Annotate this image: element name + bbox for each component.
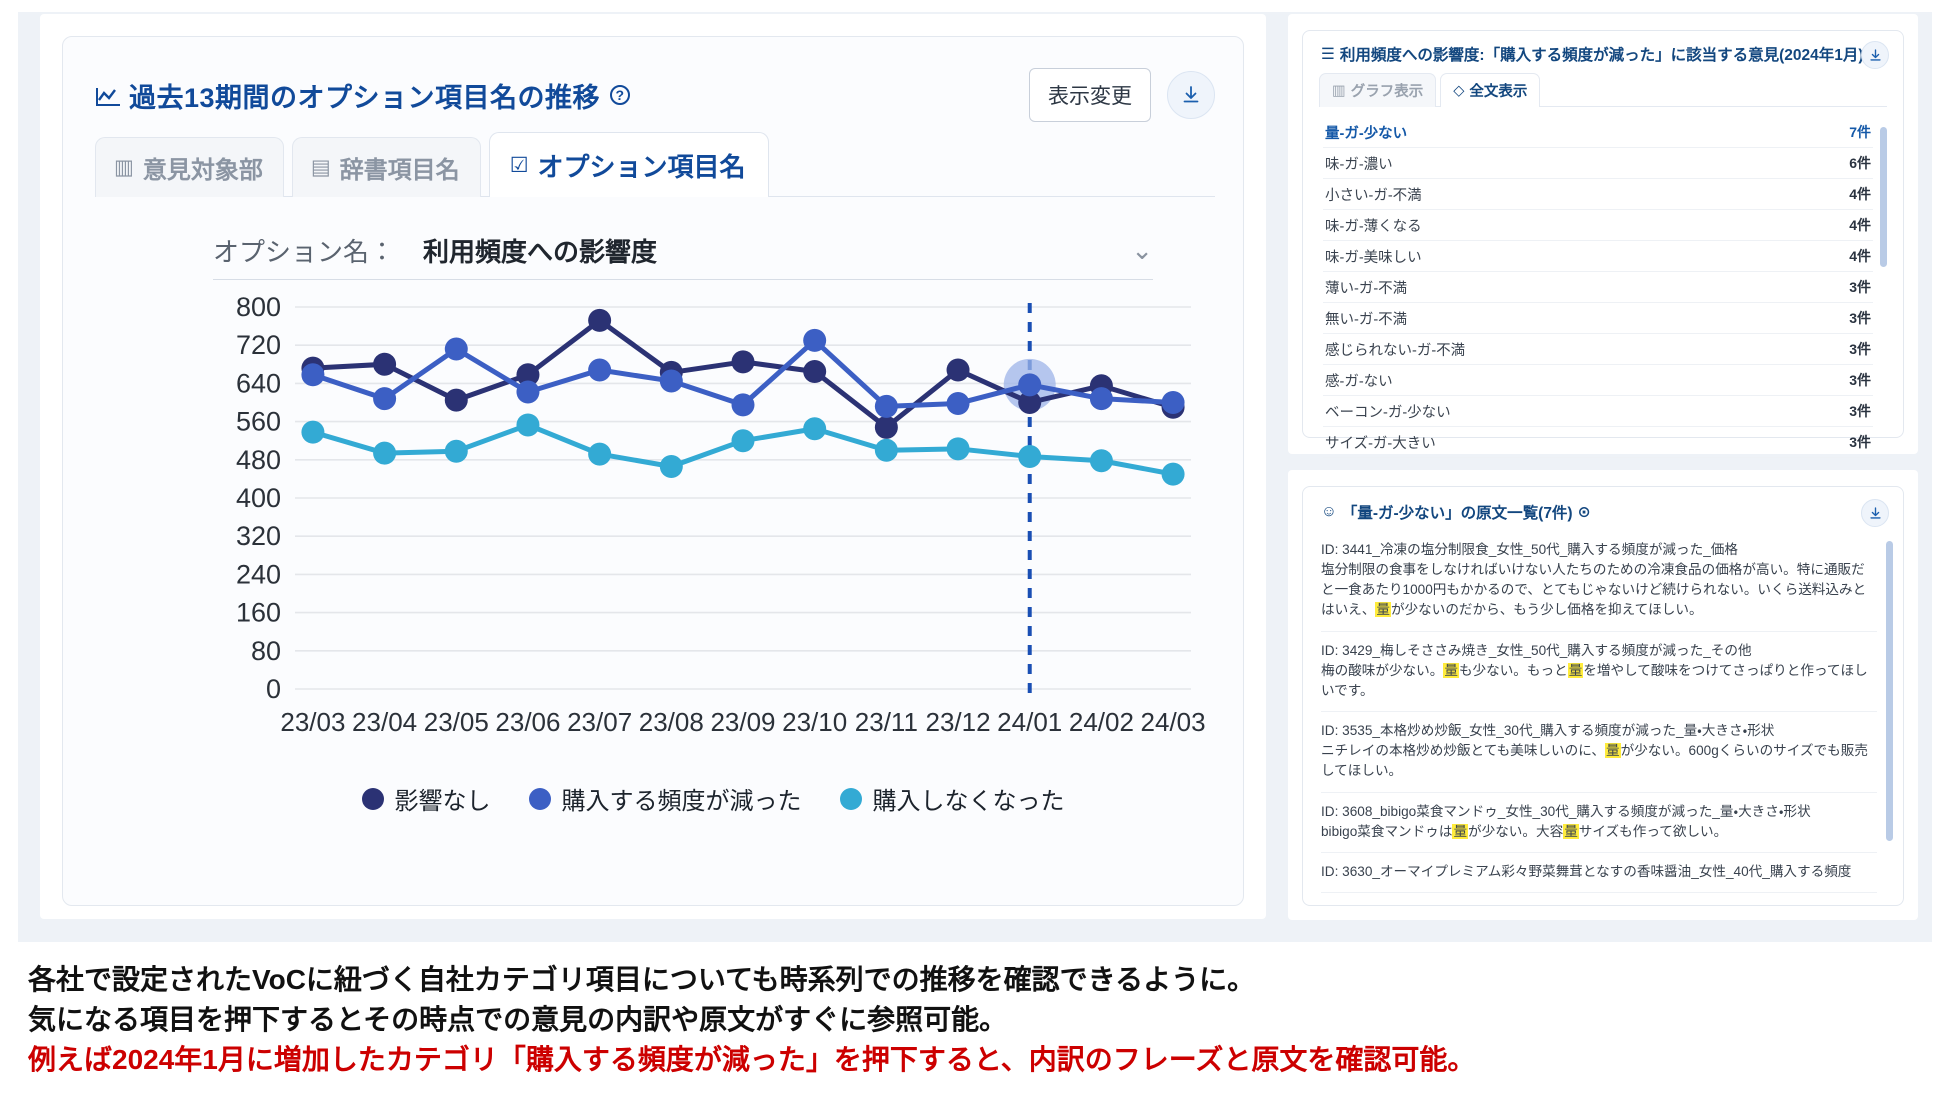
caption: 各社で設定されたVoCに紐づく自社カテゴリ項目についても時系列での推移を確認でき… [28, 960, 1928, 1079]
svg-text:80: 80 [251, 636, 281, 666]
phrase-row[interactable]: ベーコン-ガ-少ない3件 [1323, 396, 1873, 427]
phrase-count: 3件 [1849, 277, 1871, 297]
svg-text:23/10: 23/10 [782, 707, 847, 737]
download-icon[interactable] [1167, 71, 1215, 119]
tab-fulltext-view[interactable]: ◇ 全文表示 [1440, 73, 1540, 107]
source-text-id: ID: 3608_bibigo菜食マンドゥ_女性_30代_購入する頻度が減った_… [1321, 802, 1877, 822]
body-text: も少ない。もっと [1459, 663, 1568, 678]
phrase-breakdown-title: ☰ 利用頻度への影響度:「購入する頻度が減った」に該当する意見(2024年1月)… [1321, 43, 1845, 65]
source-text-panel: ☺ 「量-ガ-少ない」の原文一覧(7件) ⊙ ID: 3441_冷凍の塩分制限食… [1302, 486, 1904, 906]
phrase-count: 3件 [1849, 401, 1871, 421]
svg-text:320: 320 [236, 521, 281, 551]
svg-text:24/02: 24/02 [1069, 707, 1134, 737]
source-text-scrollbar[interactable] [1886, 541, 1893, 841]
source-text-body: ニチレイの本格炒め炒飯とても美味しいのに、量が少ない。600gくらいのサイズでも… [1321, 741, 1877, 782]
phrase-frequency-list: 量-ガ-少ない7件味-ガ-濃い6件小さい-ガ-不満4件味-ガ-薄くなる4件味-ガ… [1323, 117, 1873, 458]
source-text-id: ID: 3441_冷凍の塩分制限食_女性_50代_購入する頻度が減った_価格 [1321, 540, 1877, 560]
phrase-row[interactable]: 小さい-ガ-不満4件 [1323, 179, 1873, 210]
download-icon[interactable] [1861, 41, 1889, 69]
svg-text:160: 160 [236, 598, 281, 628]
trend-line-icon [95, 84, 121, 106]
svg-text:23/09: 23/09 [710, 707, 775, 737]
highlighted-term: 量 [1452, 824, 1468, 839]
phrase-row[interactable]: サイズ-ガ-大きい3件 [1323, 427, 1873, 458]
body-text: 梅の酸味が少ない。 [1321, 663, 1443, 678]
source-text-id: ID: 3630_オーマイプレミアム彩々野菜舞茸となすの香味醤油_女性_40代_… [1321, 862, 1877, 882]
highlighted-term: 量 [1375, 602, 1391, 617]
body-text: bibigo菜食マンドゥは [1321, 824, 1452, 839]
comment-icon: ☺ [1321, 503, 1337, 521]
phrase-label: 量-ガ-少ない [1325, 122, 1407, 143]
tab-label: 全文表示 [1469, 80, 1527, 101]
svg-text:24/01: 24/01 [997, 707, 1062, 737]
svg-text:240: 240 [236, 559, 281, 589]
source-text-item[interactable]: ID: 3429_梅しそささみ焼き_女性_50代_購入する頻度が減った_その他梅… [1321, 632, 1877, 712]
svg-text:23/03: 23/03 [280, 707, 345, 737]
page-title-text: 過去13期間のオプション項目名の推移 [129, 76, 600, 115]
tab-label: 意見対象部 [143, 150, 263, 185]
phrase-count: 3件 [1849, 339, 1871, 359]
tab-opinion-target[interactable]: ▥ 意見対象部 [95, 137, 284, 197]
source-text-body: bibigo菜食マンドゥは量が少ない。大容量サイズも作って欲しい。 [1321, 822, 1877, 842]
header-actions: 表示変更 [1029, 68, 1215, 122]
svg-text:800: 800 [236, 295, 281, 322]
tab-label: 辞書項目名 [340, 150, 460, 185]
source-text-body: 塩分制限の食事をしなければいけない人たちのための冷凍食品の価格が高い。特に通販だ… [1321, 560, 1877, 621]
phrase-count: 3件 [1849, 308, 1871, 328]
body-text: が少ない。大容 [1468, 824, 1563, 839]
tag-icon: ◇ [1453, 83, 1464, 99]
body-text: が少ないのだから、もう少し価格を抑えてほしい。 [1391, 602, 1703, 617]
legend-label: 影響なし [395, 781, 491, 816]
phrase-view-tabs: ▥ グラフ表示 ◇ 全文表示 [1319, 75, 1887, 107]
phrase-list-scrollbar[interactable] [1880, 127, 1887, 267]
tab-label: オプション項目名 [538, 147, 746, 184]
source-text-card: ☺ 「量-ガ-少ない」の原文一覧(7件) ⊙ ID: 3441_冷凍の塩分制限食… [1288, 470, 1918, 920]
legend-item[interactable]: 影響なし [362, 781, 491, 816]
phrase-count: 6件 [1849, 153, 1871, 173]
phrase-count: 7件 [1849, 122, 1871, 142]
source-text-list: ID: 3441_冷凍の塩分制限食_女性_50代_購入する頻度が減った_価格塩分… [1321, 531, 1877, 901]
phrase-breakdown-panel: ☰ 利用頻度への影響度:「購入する頻度が減った」に該当する意見(2024年1月)… [1302, 30, 1904, 438]
source-text-item[interactable]: ID: 3535_本格炒め炒飯_女性_30代_購入する頻度が減った_量・大きさ・… [1321, 712, 1877, 792]
book-icon: ▤ [311, 157, 331, 178]
legend-label: 購入しなくなった [873, 781, 1065, 816]
source-text-title: ☺ 「量-ガ-少ない」の原文一覧(7件) ⊙ [1321, 501, 1845, 523]
tab-option-item[interactable]: ☑ オプション項目名 [489, 132, 769, 197]
highlighted-term: 量 [1563, 824, 1579, 839]
legend-color-dot [529, 788, 551, 810]
trend-chart: 08016024032040048056064072080023/0323/04… [213, 295, 1213, 855]
phrase-label: 感じられない-ガ-不満 [1325, 339, 1465, 360]
chart-legend: 影響なし購入する頻度が減った購入しなくなった [213, 781, 1213, 816]
phrase-row[interactable]: 味-ガ-美味しい4件 [1323, 241, 1873, 272]
download-icon[interactable] [1861, 499, 1889, 527]
phrase-label: ベーコン-ガ-少ない [1325, 401, 1451, 422]
phrase-row[interactable]: 感じられない-ガ-不満3件 [1323, 334, 1873, 365]
legend-label: 購入する頻度が減った [562, 781, 802, 816]
checkbox-icon: ☑ [510, 155, 529, 176]
highlighted-term: 量 [1443, 663, 1459, 678]
svg-text:720: 720 [236, 330, 281, 360]
svg-text:23/05: 23/05 [424, 707, 489, 737]
display-change-button[interactable]: 表示変更 [1029, 68, 1151, 122]
source-text-id: ID: 3429_梅しそささみ焼き_女性_50代_購入する頻度が減った_その他 [1321, 641, 1877, 661]
svg-text:23/06: 23/06 [495, 707, 560, 737]
option-label: オプション名： [213, 232, 395, 269]
svg-text:23/07: 23/07 [567, 707, 632, 737]
phrase-breakdown-card: ☰ 利用頻度への影響度:「購入する頻度が減った」に該当する意見(2024年1月)… [1288, 14, 1918, 454]
legend-item[interactable]: 購入する頻度が減った [529, 781, 802, 816]
phrase-count: 3件 [1849, 370, 1871, 390]
source-text-item[interactable]: ID: 3608_bibigo菜食マンドゥ_女性_30代_購入する頻度が減った_… [1321, 793, 1877, 853]
bar-chart-icon: ▥ [1332, 83, 1346, 99]
phrase-row[interactable]: 味-ガ-薄くなる4件 [1323, 210, 1873, 241]
phrase-count: 3件 [1849, 432, 1871, 452]
svg-text:400: 400 [236, 483, 281, 513]
tab-label: グラフ表示 [1351, 80, 1424, 101]
trend-panel: 過去13期間のオプション項目名の推移 ? 表示変更 ▥ 意見対 [62, 36, 1244, 906]
phrase-row[interactable]: 薄い-ガ-不満3件 [1323, 272, 1873, 303]
caption-line-3: 例えば2024年1月に増加したカテゴリ「購入する頻度が減った」を押下すると、内訳… [28, 1040, 1928, 1080]
slide-root: 過去13期間のオプション項目名の推移 ? 表示変更 ▥ 意見対 [0, 0, 1950, 1101]
caption-line-1: 各社で設定されたVoCに紐づく自社カテゴリ項目についても時系列での推移を確認でき… [28, 960, 1928, 1000]
body-text: サイズも作って欲しい。 [1579, 824, 1727, 839]
source-text-body: 梅の酸味が少ない。量も少ない。もっと量を増やして酸味をつけてさっぱりと作ってほし… [1321, 661, 1877, 702]
svg-text:0: 0 [266, 674, 281, 704]
caption-line-2: 気になる項目を押下するとその時点での意見の内訳や原文がすぐに参照可能。 [28, 1000, 1928, 1040]
source-text-item[interactable]: ID: 3441_冷凍の塩分制限食_女性_50代_購入する頻度が減った_価格塩分… [1321, 531, 1877, 632]
legend-item[interactable]: 購入しなくなった [840, 781, 1065, 816]
tab-dictionary-item[interactable]: ▤ 辞書項目名 [292, 137, 481, 197]
trend-tabs: ▥ 意見対象部 ▤ 辞書項目名 ☑ オプション項目名 [95, 139, 1215, 197]
svg-text:24/03: 24/03 [1141, 707, 1206, 737]
svg-text:640: 640 [236, 368, 281, 398]
help-circle-icon[interactable]: ⊙ [1578, 503, 1591, 522]
trend-card: 過去13期間のオプション項目名の推移 ? 表示変更 ▥ 意見対 [40, 14, 1266, 919]
phrase-label: 味-ガ-美味しい [1325, 246, 1422, 267]
phrase-row[interactable]: 味-ガ-濃い6件 [1323, 148, 1873, 179]
svg-text:23/11: 23/11 [855, 707, 918, 737]
svg-text:23/08: 23/08 [639, 707, 704, 737]
source-text-title-text: 「量-ガ-少ない」の原文一覧(7件) [1342, 501, 1573, 523]
phrase-row[interactable]: 量-ガ-少ない7件 [1323, 117, 1873, 148]
list-icon: ☰ [1321, 45, 1335, 64]
line-chart-svg[interactable]: 08016024032040048056064072080023/0323/04… [213, 295, 1213, 775]
phrase-breakdown-title-text: 利用頻度への影響度:「購入する頻度が減った」に該当する意見(2024年1月) [1340, 43, 1864, 65]
body-text: ニチレイの本格炒め炒飯とても美味しいのに、 [1321, 743, 1605, 758]
phrase-count: 4件 [1849, 215, 1871, 235]
phrase-label: 感-ガ-ない [1325, 370, 1393, 391]
legend-color-dot [840, 788, 862, 810]
phrase-label: 小さい-ガ-不満 [1325, 184, 1422, 205]
chevron-down-icon[interactable]: ⌄ [1131, 235, 1153, 266]
bar-chart-icon: ▥ [114, 157, 134, 178]
phrase-label: 味-ガ-薄くなる [1325, 215, 1422, 236]
phrase-count: 4件 [1849, 184, 1871, 204]
panel-header: 過去13期間のオプション項目名の推移 ? 表示変更 [95, 67, 1215, 123]
phrase-count: 4件 [1849, 246, 1871, 266]
svg-text:560: 560 [236, 407, 281, 437]
phrase-row[interactable]: 感-ガ-ない3件 [1323, 365, 1873, 396]
highlighted-term: 量 [1568, 663, 1584, 678]
source-text-id: ID: 3535_本格炒め炒飯_女性_30代_購入する頻度が減った_量・大きさ・… [1321, 721, 1877, 741]
phrase-label: 薄い-ガ-不満 [1325, 277, 1407, 298]
svg-text:23/12: 23/12 [926, 707, 991, 737]
phrase-label: 無い-ガ-不満 [1325, 308, 1407, 329]
highlighted-term: 量 [1605, 743, 1621, 758]
phrase-label: サイズ-ガ-大きい [1325, 432, 1436, 453]
svg-text:480: 480 [236, 445, 281, 475]
option-select[interactable]: オプション名： 利用頻度への影響度 ⌄ [213, 232, 1153, 280]
svg-text:23/04: 23/04 [352, 707, 417, 737]
option-selected-value: 利用頻度への影響度 [423, 232, 657, 269]
tab-graph-view[interactable]: ▥ グラフ表示 [1319, 73, 1436, 107]
legend-color-dot [362, 788, 384, 810]
page-title: 過去13期間のオプション項目名の推移 ? [95, 76, 630, 115]
phrase-row[interactable]: 無い-ガ-不満3件 [1323, 303, 1873, 334]
help-circle-icon[interactable]: ? [610, 85, 630, 105]
phrase-label: 味-ガ-濃い [1325, 153, 1393, 174]
source-text-item[interactable]: ID: 3630_オーマイプレミアム彩々野菜舞茸となすの香味醤油_女性_40代_… [1321, 853, 1877, 893]
